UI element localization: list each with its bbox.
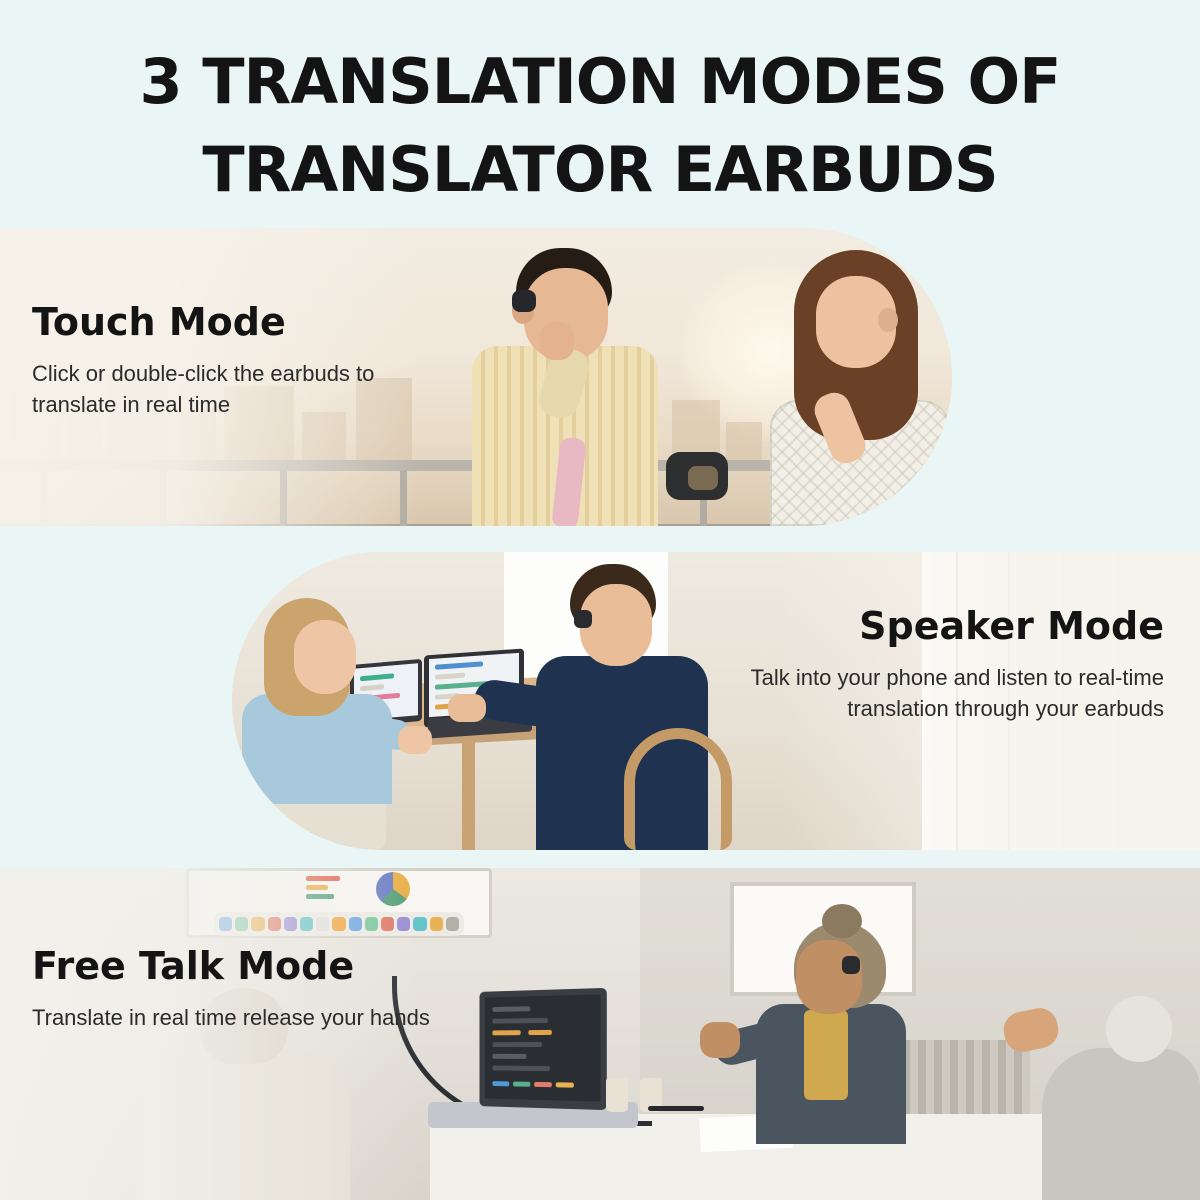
- earbud-icon: [842, 956, 860, 974]
- speaker-mode-text: Speaker Mode Talk into your phone and li…: [694, 604, 1164, 724]
- laptop-display: [485, 994, 601, 1101]
- touch-mode-text: Touch Mode Click or double-click the ear…: [32, 300, 452, 420]
- earbud-icon: [574, 610, 592, 628]
- panel-gap: [0, 526, 1200, 552]
- person-woman-speaker-mode: [242, 598, 396, 850]
- person-right-free-talk-mode: [986, 996, 1200, 1200]
- person-woman-touch-mode: [760, 250, 950, 526]
- speaker-mode-panel: Speaker Mode Talk into your phone and li…: [232, 552, 1200, 850]
- page-title-line-2: TRANSLATOR EARBUDS: [60, 126, 1140, 214]
- earbud-icon: [512, 290, 536, 312]
- panel-gap: [0, 850, 1200, 868]
- speaker-mode-title: Speaker Mode: [694, 604, 1164, 650]
- paper-cup: [606, 1078, 628, 1112]
- free-talk-mode-text: Free Talk Mode Translate in real time re…: [32, 944, 452, 1033]
- charging-case-hand: [688, 466, 718, 490]
- person-woman-free-talk-mode: [700, 904, 930, 1144]
- page-title-line-1: 3 TRANSLATION MODES OF: [60, 38, 1140, 126]
- page-title: 3 TRANSLATION MODES OF TRANSLATOR EARBUD…: [0, 38, 1200, 214]
- free-talk-mode-text-scrim: [0, 868, 420, 1200]
- touch-mode-title: Touch Mode: [32, 300, 452, 346]
- infographic-page: 3 TRANSLATION MODES OF TRANSLATOR EARBUD…: [0, 0, 1200, 1200]
- free-talk-mode-panel: Free Talk Mode Translate in real time re…: [0, 868, 1200, 1200]
- free-talk-mode-title: Free Talk Mode: [32, 944, 452, 990]
- free-talk-mode-description: Translate in real time release your hand…: [32, 1002, 452, 1033]
- pen: [648, 1106, 704, 1111]
- speaker-mode-description: Talk into your phone and listen to real-…: [694, 662, 1164, 724]
- touch-mode-panel: Touch Mode Click or double-click the ear…: [0, 228, 952, 526]
- touch-mode-description: Click or double-click the earbuds to tra…: [32, 358, 452, 420]
- person-man-touch-mode: [452, 228, 662, 526]
- table-leg: [462, 740, 475, 850]
- wooden-chair: [624, 728, 732, 850]
